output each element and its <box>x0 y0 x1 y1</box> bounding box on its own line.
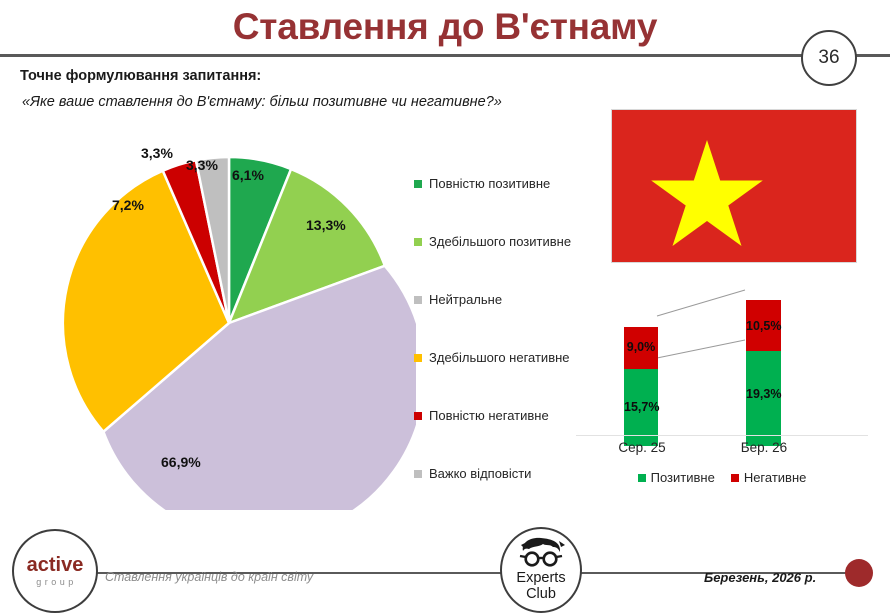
question-label: Точне формулювання запитання: <box>20 68 261 84</box>
bar-value-negative-ser-25: 9,0% <box>624 340 658 354</box>
bar-plot-area: 15,7% 9,0% 19,3% 10,5% <box>572 274 872 446</box>
legend-label-fully-negative: Повністю негативне <box>429 408 549 423</box>
header-divider <box>0 54 890 57</box>
bar-legend-swatch-positive <box>638 474 646 482</box>
legend-label-mostly-positive: Здебільшого позитивне <box>429 234 571 249</box>
pie-label-mostly-negative: 7,2% <box>112 197 144 213</box>
pie-label-mostly-positive: 13,3% <box>306 217 346 233</box>
legend-swatch-mostly-positive <box>414 238 422 246</box>
pie-chart-svg <box>46 140 416 510</box>
bar-value-positive-ser-25: 15,7% <box>624 400 658 414</box>
bar-value-positive-ber-26: 19,3% <box>746 387 781 401</box>
legend-label-mostly-negative: Здебільшого негативне <box>429 350 570 365</box>
bar-legend: Позитивне Негативне <box>572 470 872 485</box>
active-group-logo-subword: group <box>33 577 77 587</box>
bar-legend-label-negative: Негативне <box>744 470 807 485</box>
legend-swatch-fully-positive <box>414 180 422 188</box>
pie-label-fully-negative: 3,3% <box>141 145 173 161</box>
vietnam-flag <box>611 109 857 263</box>
bar-legend-item-positive[interactable]: Позитивне <box>638 470 715 485</box>
bar-legend-label-positive: Позитивне <box>651 470 715 485</box>
pie-chart: 6,1% 13,3% 3,3% 7,2% 3,3% 66,9% <box>46 140 416 510</box>
trend-bar-chart: 15,7% 9,0% 19,3% 10,5% Сер. 25 Бер. 26 П… <box>572 274 872 496</box>
experts-club-logo-line1: Experts <box>516 570 565 586</box>
legend-swatch-hard-to-answer <box>414 470 422 478</box>
bar-category-ser-25: Сер. 25 <box>594 440 690 455</box>
active-group-logo-word: active <box>27 555 84 575</box>
legend-label-fully-positive: Повністю позитивне <box>429 176 550 191</box>
legend-label-hard-to-answer: Важко відповісти <box>429 466 531 481</box>
page-title: Ставлення до В'єтнаму <box>0 6 890 48</box>
footer-dot <box>845 559 873 587</box>
bar-column-ser-25[interactable]: 15,7% 9,0% <box>624 327 658 446</box>
bar-value-negative-ber-26: 10,5% <box>746 319 781 333</box>
page-number-badge: 36 <box>801 30 857 86</box>
bar-legend-swatch-negative <box>731 474 739 482</box>
pie-label-fully-positive: 6,1% <box>232 167 264 183</box>
bar-axis-line <box>576 435 868 436</box>
experts-club-face-icon <box>513 537 569 569</box>
bar-category-ber-26: Бер. 26 <box>716 440 812 455</box>
legend-item-fully-positive[interactable]: Повністю позитивне <box>414 176 604 234</box>
active-group-logo: active group <box>12 529 98 613</box>
question-text: «Яке ваше ставлення до В'єтнаму: більш п… <box>22 94 502 110</box>
experts-club-logo-line2: Club <box>526 586 556 602</box>
bar-connector-lines <box>572 274 872 446</box>
legend-swatch-neutral <box>414 296 422 304</box>
bar-column-ber-26[interactable]: 19,3% 10,5% <box>746 300 781 446</box>
footer-date: Березень, 2026 р. <box>704 570 816 585</box>
pie-label-hard-to-answer: 66,9% <box>161 454 201 470</box>
flag-star-icon <box>612 110 856 262</box>
experts-club-logo: Experts Club <box>500 527 582 613</box>
footer-caption: Ставлення українців до країн світу <box>105 570 313 584</box>
legend-swatch-fully-negative <box>414 412 422 420</box>
legend-swatch-mostly-negative <box>414 354 422 362</box>
pie-label-neutral: 3,3% <box>186 157 218 173</box>
legend-label-neutral: Нейтральне <box>429 292 502 307</box>
bar-legend-item-negative[interactable]: Негативне <box>731 470 807 485</box>
slide-root: Ставлення до В'єтнаму 36 Точне формулюва… <box>0 0 890 616</box>
